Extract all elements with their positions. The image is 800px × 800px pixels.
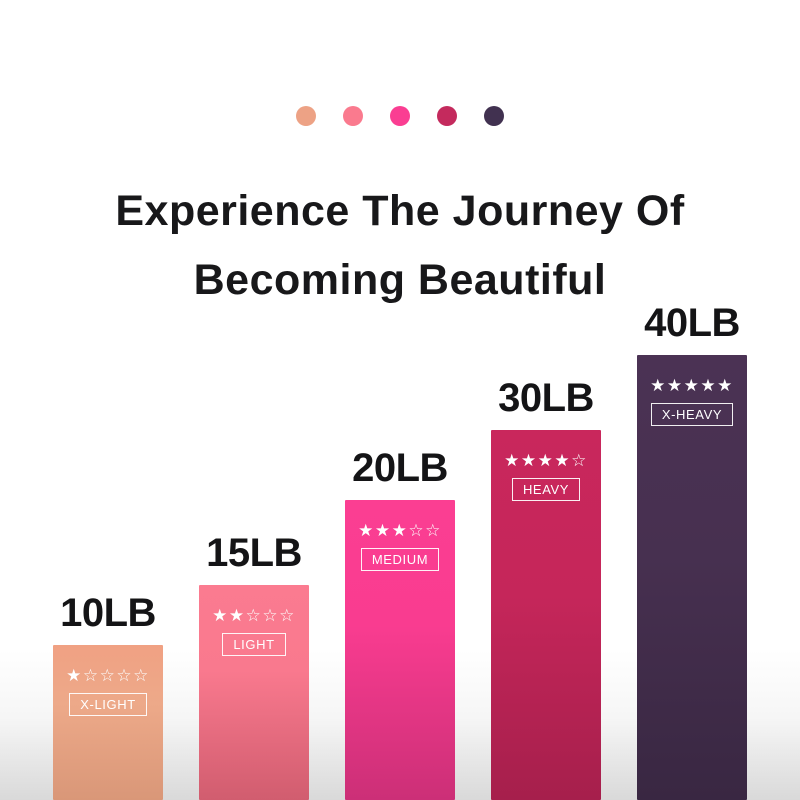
dot-x-light-icon [296,106,316,126]
headline-line-1: Experience The Journey Of [0,177,800,246]
bar-weight-label-15lb: 15LB [206,533,302,573]
star-rating-30lb: ★★★★☆ [504,452,588,469]
color-swatch-dot-row [0,106,800,126]
bar-column-15lb: 15LB ★★☆☆☆ LIGHT [199,533,309,800]
level-tag-x-heavy: X-HEAVY [651,403,733,426]
level-tag-x-light: X-LIGHT [69,693,146,716]
bar-15lb: ★★☆☆☆ LIGHT [199,585,309,800]
bar-weight-label-20lb: 20LB [352,448,448,488]
star-rating-40lb: ★★★★★ [650,377,734,394]
resistance-level-bar-chart: 10LB ★☆☆☆☆ X-LIGHT 15LB ★★☆☆☆ LIGHT 20LB… [0,280,800,800]
bar-30lb: ★★★★☆ HEAVY [491,430,601,800]
dot-x-heavy-icon [484,106,504,126]
level-tag-heavy: HEAVY [512,478,580,501]
headline-line-2: Becoming Beautiful [0,246,800,315]
bar-40lb: ★★★★★ X-HEAVY [637,355,747,800]
page-title: Experience The Journey Of Becoming Beaut… [0,177,800,315]
level-tag-medium: MEDIUM [361,548,439,571]
bar-column-20lb: 20LB ★★★☆☆ MEDIUM [345,448,455,800]
dot-light-icon [343,106,363,126]
dot-heavy-icon [437,106,457,126]
star-rating-10lb: ★☆☆☆☆ [66,667,150,684]
star-rating-20lb: ★★★☆☆ [358,522,442,539]
bar-weight-label-30lb: 30LB [498,378,594,418]
product-infographic-poster: Experience The Journey Of Becoming Beaut… [0,0,800,800]
bar-column-10lb: 10LB ★☆☆☆☆ X-LIGHT [53,593,163,800]
bar-weight-label-10lb: 10LB [60,593,156,633]
bar-column-40lb: 40LB ★★★★★ X-HEAVY [637,303,747,800]
bar-column-30lb: 30LB ★★★★☆ HEAVY [491,378,601,800]
bar-20lb: ★★★☆☆ MEDIUM [345,500,455,800]
star-rating-15lb: ★★☆☆☆ [212,607,296,624]
bar-10lb: ★☆☆☆☆ X-LIGHT [53,645,163,800]
dot-medium-icon [390,106,410,126]
level-tag-light: LIGHT [222,633,285,656]
